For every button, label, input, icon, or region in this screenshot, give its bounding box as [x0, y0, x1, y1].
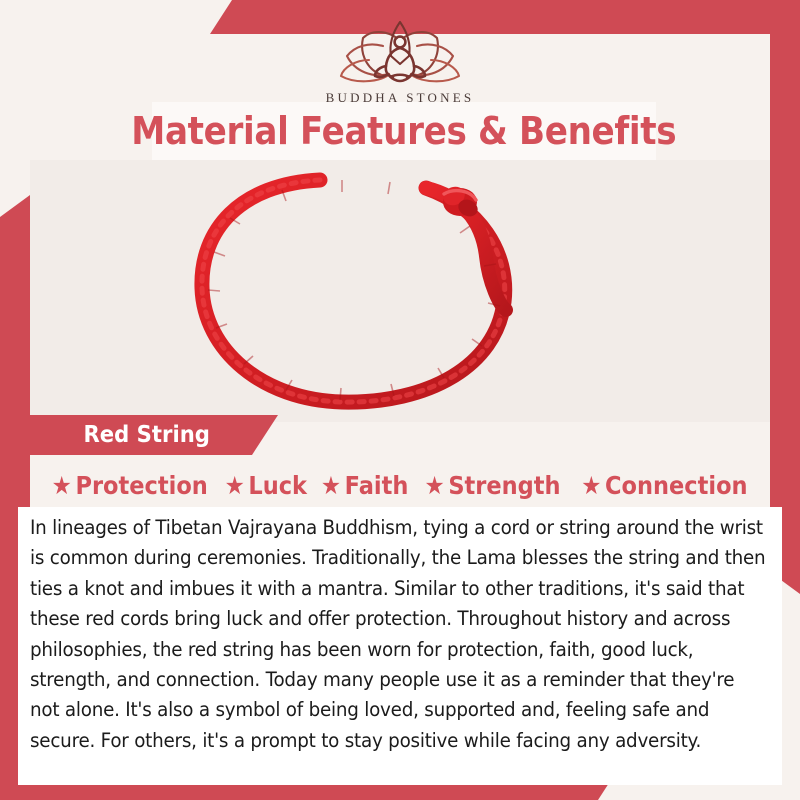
product-name-banner: Red String — [28, 415, 278, 455]
star-icon: ★ — [52, 473, 72, 498]
feature-item-luck: ★ Luck — [223, 471, 309, 500]
product-name: Red String — [83, 422, 209, 448]
product-image — [30, 160, 770, 422]
feature-label-protection: Protection — [75, 471, 207, 500]
star-icon: ★ — [225, 473, 245, 498]
red-string-bracelet-illustration — [30, 160, 770, 422]
lotus-meditation-icon — [325, 16, 475, 88]
feature-label-strength: Strength — [449, 471, 561, 500]
star-icon: ★ — [321, 473, 341, 498]
description-block: In lineages of Tibetan Vajrayana Buddhis… — [18, 507, 782, 785]
description-text: In lineages of Tibetan Vajrayana Buddhis… — [30, 513, 768, 756]
feature-label-luck: Luck — [249, 471, 308, 500]
feature-label-connection: Connection — [605, 471, 748, 500]
feature-item-strength: ★ Strength — [423, 471, 563, 500]
feature-item-protection: ★ Protection — [50, 471, 210, 500]
brand-logo: BUDDHA STONES — [0, 16, 800, 106]
infographic-card: BUDDHA STONES Material Features & Benefi… — [0, 0, 800, 800]
page-title: Material Features & Benefits — [132, 109, 677, 153]
star-icon: ★ — [582, 473, 602, 498]
feature-item-connection: ★ Connection — [580, 471, 750, 500]
star-icon: ★ — [425, 473, 445, 498]
feature-list: ★ Protection ★ Luck ★ Faith ★ Strength ★… — [30, 466, 770, 504]
page-title-band: Material Features & Benefits — [152, 102, 656, 160]
feature-label-faith: Faith — [345, 471, 409, 500]
feature-item-faith: ★ Faith — [319, 471, 410, 500]
